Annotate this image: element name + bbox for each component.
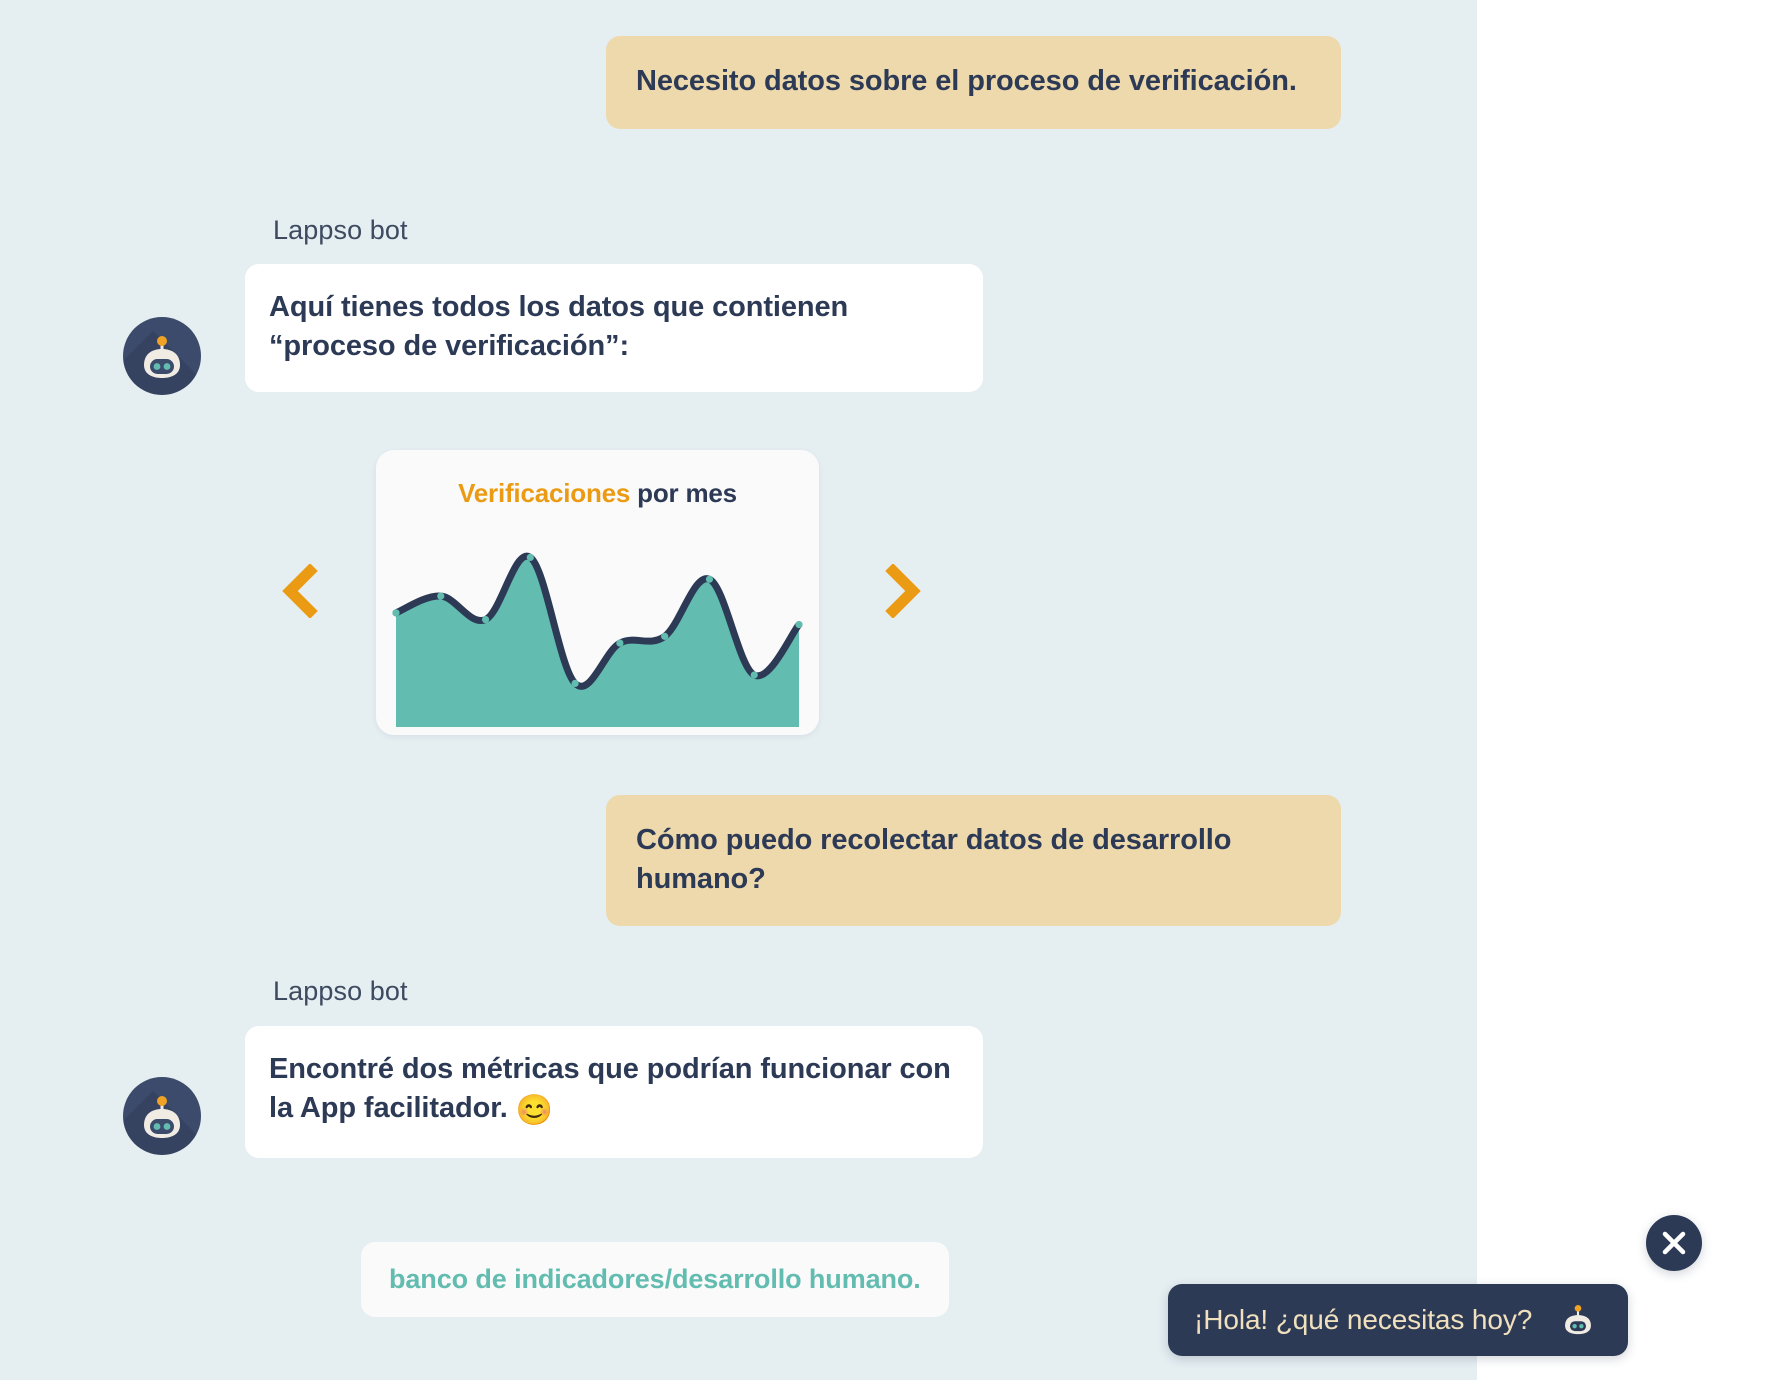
bot-message-2-text: Encontré dos métricas que podrían funcio… <box>269 1053 951 1124</box>
chart-data-point <box>437 592 444 599</box>
chart-data-point <box>572 680 579 687</box>
robot-face-icon <box>1554 1296 1602 1344</box>
bot-message-2: Encontré dos métricas que podrían funcio… <box>245 1026 983 1158</box>
chevron-left-icon <box>279 564 323 618</box>
chart-data-point <box>795 621 802 628</box>
reference-link-banco-indicadores[interactable]: banco de indicadores/desarrollo humano. <box>361 1242 949 1317</box>
bot-message-row-1: Aquí tienes todos los datos que contiene… <box>245 264 983 392</box>
chart-data-point <box>616 639 623 646</box>
chart-data-point <box>751 671 758 678</box>
bot-message-row-2: Encontré dos métricas que podrían funcio… <box>245 1026 983 1158</box>
user-message-row-2: Cómo puedo recolectar datos de desarroll… <box>606 795 1341 926</box>
bot-sender-label-2: Lappso bot <box>273 976 408 1007</box>
chart-data-point <box>392 609 399 616</box>
chevron-right-icon <box>880 564 924 618</box>
user-message-row-1: Necesito datos sobre el proceso de verif… <box>606 36 1341 129</box>
chart-plot <box>376 527 819 732</box>
smiling-face-emoji: 😊 <box>516 1094 553 1127</box>
close-icon <box>1646 1215 1702 1271</box>
greeting-widget-button[interactable]: ¡Hola! ¿qué necesitas hoy? <box>1168 1284 1628 1356</box>
chart-data-point <box>527 554 534 561</box>
chart-title-rest: por mes <box>630 478 737 508</box>
chart-data-point <box>706 576 713 583</box>
carousel-next-button[interactable] <box>880 564 924 618</box>
bot-sender-label-1: Lappso bot <box>273 215 408 246</box>
chart-title: Verificaciones por mes <box>376 450 819 509</box>
app-root: Necesito datos sobre el proceso de verif… <box>0 0 1776 1380</box>
chart-card[interactable]: Verificaciones por mes <box>376 450 819 735</box>
close-widget-button[interactable] <box>1646 1215 1702 1271</box>
user-message-1: Necesito datos sobre el proceso de verif… <box>606 36 1341 129</box>
robot-head-icon <box>123 1077 201 1155</box>
robot-head-icon <box>123 317 201 395</box>
chart-data-point <box>661 633 668 640</box>
chart-data-point <box>482 616 489 623</box>
chart-title-highlight: Verificaciones <box>458 478 630 508</box>
greeting-text: ¡Hola! ¿qué necesitas hoy? <box>1194 1304 1532 1336</box>
chat-panel: Necesito datos sobre el proceso de verif… <box>0 0 1477 1380</box>
bot-message-1: Aquí tienes todos los datos que contiene… <box>245 264 983 392</box>
bot-avatar-1 <box>123 317 201 395</box>
user-message-2: Cómo puedo recolectar datos de desarroll… <box>606 795 1341 926</box>
verifications-area-chart <box>376 527 819 727</box>
bot-avatar-2 <box>123 1077 201 1155</box>
carousel-prev-button[interactable] <box>279 564 323 618</box>
